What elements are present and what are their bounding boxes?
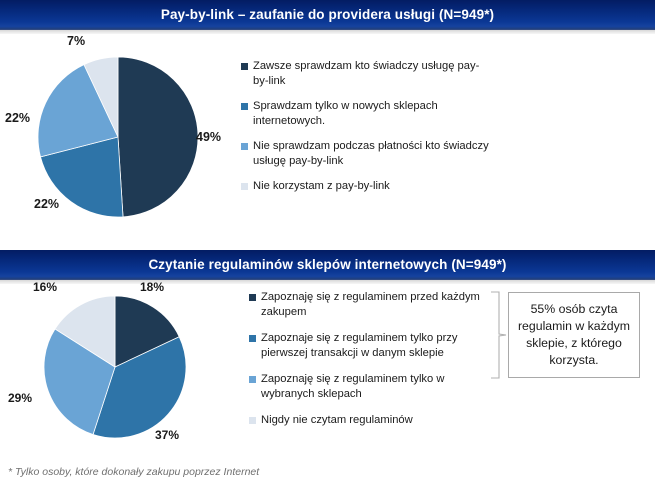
legend-swatch-icon [241,103,248,110]
legend-swatch-icon [249,294,256,301]
pie-2-label-0: 18% [140,280,164,294]
pie-1-label-3: 7% [67,34,85,48]
legend-swatch-icon [241,183,248,190]
legend-item[interactable]: Nie korzystam z pay-by-link [241,179,491,194]
panel-2-title-bar: Czytanie regulaminów sklepów internetowy… [0,250,655,280]
pie-2-label-3: 16% [33,280,57,294]
legend-item-label: Sprawdzam tylko w nowych sklepach intern… [253,99,491,128]
legend-item[interactable]: Nie sprawdzam podczas płatności kto świa… [241,139,491,168]
panel-2-title: Czytanie regulaminów sklepów internetowy… [148,257,506,273]
panel-1-title: Pay-by-link – zaufanie do providera usłu… [161,7,494,23]
panel-2-chart-body: 18% 37% 29% 16% Zapoznaję się z regulami… [0,284,655,454]
legend-item[interactable]: Zapoznaje się z regulaminem tylko przy p… [249,331,494,360]
legend-item-label: Zapoznaję się z regulaminem przed każdym… [261,290,494,319]
legend-item[interactable]: Zawsze sprawdzam kto świadczy usługę pay… [241,59,491,88]
pie-slice[interactable] [118,57,198,217]
legend-swatch-icon [241,63,248,70]
footnote: * Tylko osoby, które dokonały zakupu pop… [8,466,259,478]
legend-pay-by-link: Zawsze sprawdzam kto świadczy usługę pay… [241,59,491,205]
pie-2-label-2: 29% [8,391,32,405]
legend-item-label: Nie sprawdzam podczas płatności kto świa… [253,139,491,168]
legend-item[interactable]: Zapoznaję się z regulaminem przed każdym… [249,290,494,319]
legend-item-label: Zapoznaję się z regulaminem tylko w wybr… [261,372,494,401]
pie-1-label-0: 49% [196,130,221,144]
legend-item-label: Nigdy nie czytam regulaminów [261,413,413,428]
legend-swatch-icon [249,335,256,342]
pie-1-label-1: 22% [34,197,59,211]
panel-1-chart-body: 49% 22% 22% 7% Zawsze sprawdzam kto świa… [0,34,655,234]
pie-1-label-2: 22% [5,111,30,125]
legend-swatch-icon [249,376,256,383]
panel-pay-by-link: Pay-by-link – zaufanie do providera usłu… [0,0,655,236]
pie-svg-2 [44,296,186,438]
legend-item[interactable]: Nigdy nie czytam regulaminów [249,413,494,428]
legend-item[interactable]: Sprawdzam tylko w nowych sklepach intern… [241,99,491,128]
pie-svg-1 [38,57,198,217]
legend-regulaminy: Zapoznaję się z regulaminem przed każdym… [249,290,494,440]
pie-chart-pay-by-link: 49% 22% 22% 7% [38,57,198,217]
legend-swatch-icon [249,417,256,424]
legend-item-label: Nie korzystam z pay-by-link [253,179,390,194]
panel-regulaminy: Czytanie regulaminów sklepów internetowy… [0,250,655,455]
panel-1-title-bar: Pay-by-link – zaufanie do providera usłu… [0,0,655,30]
callout-bracket-icon [489,291,507,379]
callout-text: 55% osób czyta regulamin w każdym sklepi… [515,301,633,369]
legend-item[interactable]: Zapoznaję się z regulaminem tylko w wybr… [249,372,494,401]
pie-chart-regulaminy: 18% 37% 29% 16% [44,296,186,438]
legend-swatch-icon [241,143,248,150]
pie-2-label-1: 37% [155,428,179,442]
legend-item-label: Zapoznaje się z regulaminem tylko przy p… [261,331,494,360]
callout-box: 55% osób czyta regulamin w każdym sklepi… [508,292,640,378]
legend-item-label: Zawsze sprawdzam kto świadczy usługę pay… [253,59,491,88]
